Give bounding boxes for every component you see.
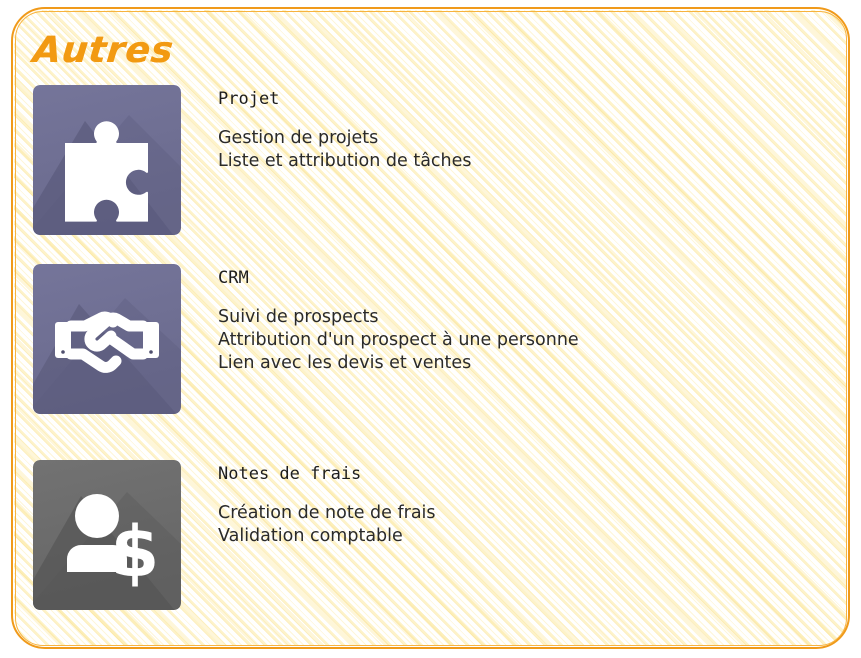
list-item-text: CRM Suivi de prospects Attribution d'un … bbox=[218, 270, 579, 375]
person-dollar-icon: $ bbox=[33, 460, 181, 610]
feature-list: Création de note de frais Validation com… bbox=[218, 502, 436, 548]
puzzle-piece-icon bbox=[33, 85, 181, 235]
feature-text: Création de note de frais bbox=[218, 502, 436, 525]
app-title: Projet bbox=[218, 91, 472, 108]
feature-text: Gestion de projets bbox=[218, 127, 472, 150]
slide: Autres bbox=[0, 0, 861, 658]
svg-text:$: $ bbox=[111, 511, 160, 593]
feature-text: Validation comptable bbox=[218, 525, 436, 548]
feature-text: Lien avec les devis et ventes bbox=[218, 352, 579, 375]
feature-list: Gestion de projets Liste et attribution … bbox=[218, 127, 472, 173]
feature-text: Attribution d'un prospect à une personne bbox=[218, 329, 579, 352]
list-item-text: Notes de frais Création de note de frais… bbox=[218, 466, 436, 548]
feature-text: Suivi de prospects bbox=[218, 306, 579, 329]
app-title: Notes de frais bbox=[218, 466, 436, 483]
feature-list-container: Projet Gestion de projets Liste et attri… bbox=[0, 0, 861, 658]
list-item-text: Projet Gestion de projets Liste et attri… bbox=[218, 91, 472, 173]
handshake-icon bbox=[33, 264, 181, 414]
feature-list: Suivi de prospects Attribution d'un pros… bbox=[218, 306, 579, 375]
app-title: CRM bbox=[218, 270, 579, 287]
feature-text: Liste et attribution de tâches bbox=[218, 150, 472, 173]
